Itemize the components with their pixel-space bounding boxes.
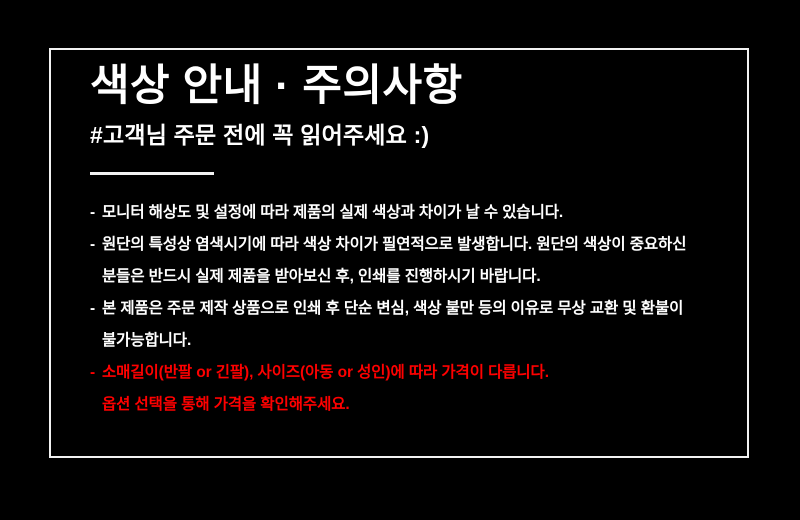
bullet-dash: - [90,293,100,325]
list-item: - 본 제품은 주문 제작 상품으로 인쇄 후 단순 변심, 색상 불만 등의 … [90,293,730,357]
list-item-text: 원단의 특성상 염색시기에 따라 색상 차이가 필연적으로 발생합니다. 원단의… [102,229,730,293]
list-item-line: 소매길이(반팔 or 긴팔), 사이즈(아동 or 성인)에 따라 가격이 다릅… [102,357,730,389]
list-item: - 모니터 해상도 및 설정에 따라 제품의 실제 색상과 차이가 날 수 있습… [90,197,730,229]
list-item-line: 분들은 반드시 실제 제품을 받아보신 후, 인쇄를 진행하시기 바랍니다. [102,261,730,293]
page-title: 색상 안내 · 주의사항 [90,62,730,110]
list-item-line: 원단의 특성상 염색시기에 따라 색상 차이가 필연적으로 발생합니다. 원단의… [102,229,730,261]
notice-content: 색상 안내 · 주의사항 #고객님 주문 전에 꼭 읽어주세요 :) - 모니터… [90,62,730,421]
bullet-dash: - [90,229,100,261]
list-item-text: 모니터 해상도 및 설정에 따라 제품의 실제 색상과 차이가 날 수 있습니다… [102,197,730,229]
list-item-alert: - 소매길이(반팔 or 긴팔), 사이즈(아동 or 성인)에 따라 가격이 … [90,357,730,421]
list-item: - 원단의 특성상 염색시기에 따라 색상 차이가 필연적으로 발생합니다. 원… [90,229,730,293]
page-subtitle: #고객님 주문 전에 꼭 읽어주세요 :) [90,122,730,150]
list-item-text: 본 제품은 주문 제작 상품으로 인쇄 후 단순 변심, 색상 불만 등의 이유… [102,293,730,357]
bullet-dash: - [90,197,100,229]
list-item-line: 본 제품은 주문 제작 상품으로 인쇄 후 단순 변심, 색상 불만 등의 이유… [102,293,730,325]
list-item-line: 옵션 선택을 통해 가격을 확인해주세요. [102,389,730,421]
list-item-line: 불가능합니다. [102,325,730,357]
bullet-dash: - [90,357,100,389]
title-divider [90,172,214,175]
notice-canvas: 색상 안내 · 주의사항 #고객님 주문 전에 꼭 읽어주세요 :) - 모니터… [0,0,800,520]
list-item-line: 모니터 해상도 및 설정에 따라 제품의 실제 색상과 차이가 날 수 있습니다… [102,197,730,229]
list-item-text: 소매길이(반팔 or 긴팔), 사이즈(아동 or 성인)에 따라 가격이 다릅… [102,357,730,421]
notice-list: - 모니터 해상도 및 설정에 따라 제품의 실제 색상과 차이가 날 수 있습… [90,197,730,421]
